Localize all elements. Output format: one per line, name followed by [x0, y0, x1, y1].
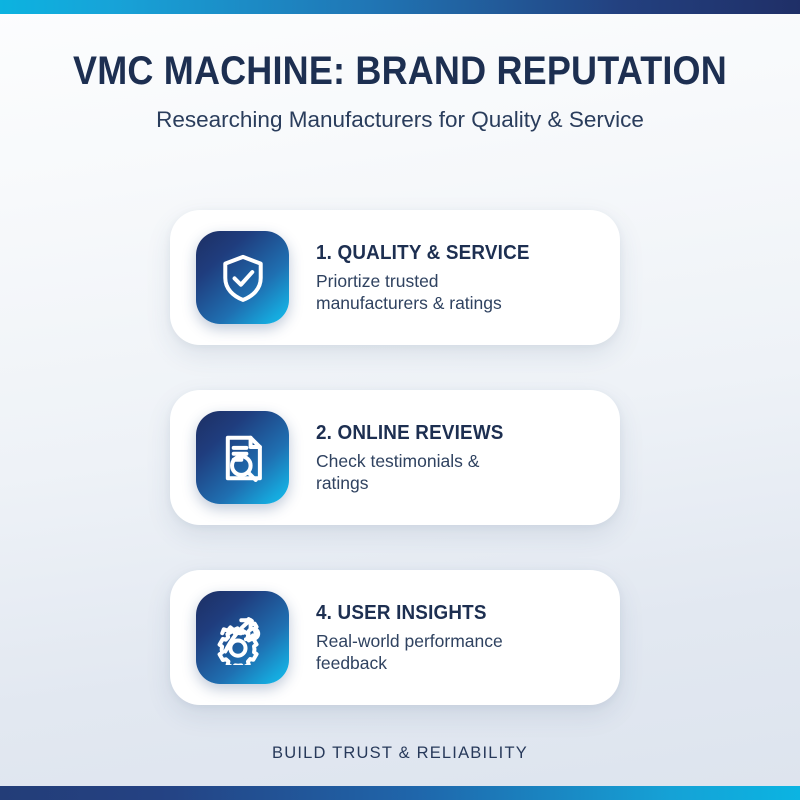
footer-tagline: BUILD TRUST & RELIABILITY — [0, 744, 800, 763]
gears-growth-arrow-icon — [196, 591, 289, 684]
poster-header: VMC MACHINE: BRAND REPUTATION Researchin… — [0, 48, 800, 134]
page-title: VMC MACHINE: BRAND REPUTATION — [40, 48, 760, 94]
card-stack: 1. QUALITY & SERVICE Priortize trusted m… — [170, 210, 620, 705]
bottom-accent-bar — [0, 786, 800, 800]
card-description: Check testimonials & ratings — [316, 450, 531, 494]
card-text-block: 1. QUALITY & SERVICE Priortize trusted m… — [289, 241, 562, 314]
card-description: Real-world performance feedback — [316, 630, 531, 674]
card-heading: 4. USER INSIGHTS — [316, 601, 514, 625]
document-search-icon — [196, 411, 289, 504]
info-card-user-insights[interactable]: 4. USER INSIGHTS Real-world performance … — [170, 570, 620, 705]
card-heading: 1. QUALITY & SERVICE — [316, 241, 530, 265]
info-card-online-reviews[interactable]: 2. ONLINE REVIEWS Check testimonials & r… — [170, 390, 620, 525]
card-heading: 2. ONLINE REVIEWS — [316, 421, 514, 445]
card-description: Priortize trusted manufacturers & rating… — [316, 270, 531, 314]
page-subtitle: Researching Manufacturers for Quality & … — [0, 106, 800, 134]
card-text-block: 2. ONLINE REVIEWS Check testimonials & r… — [289, 421, 545, 494]
infographic-poster: VMC MACHINE: BRAND REPUTATION Researchin… — [0, 0, 800, 800]
card-text-block: 4. USER INSIGHTS Real-world performance … — [289, 601, 545, 674]
shield-check-icon — [196, 231, 289, 324]
top-accent-bar — [0, 0, 800, 14]
info-card-quality-service[interactable]: 1. QUALITY & SERVICE Priortize trusted m… — [170, 210, 620, 345]
